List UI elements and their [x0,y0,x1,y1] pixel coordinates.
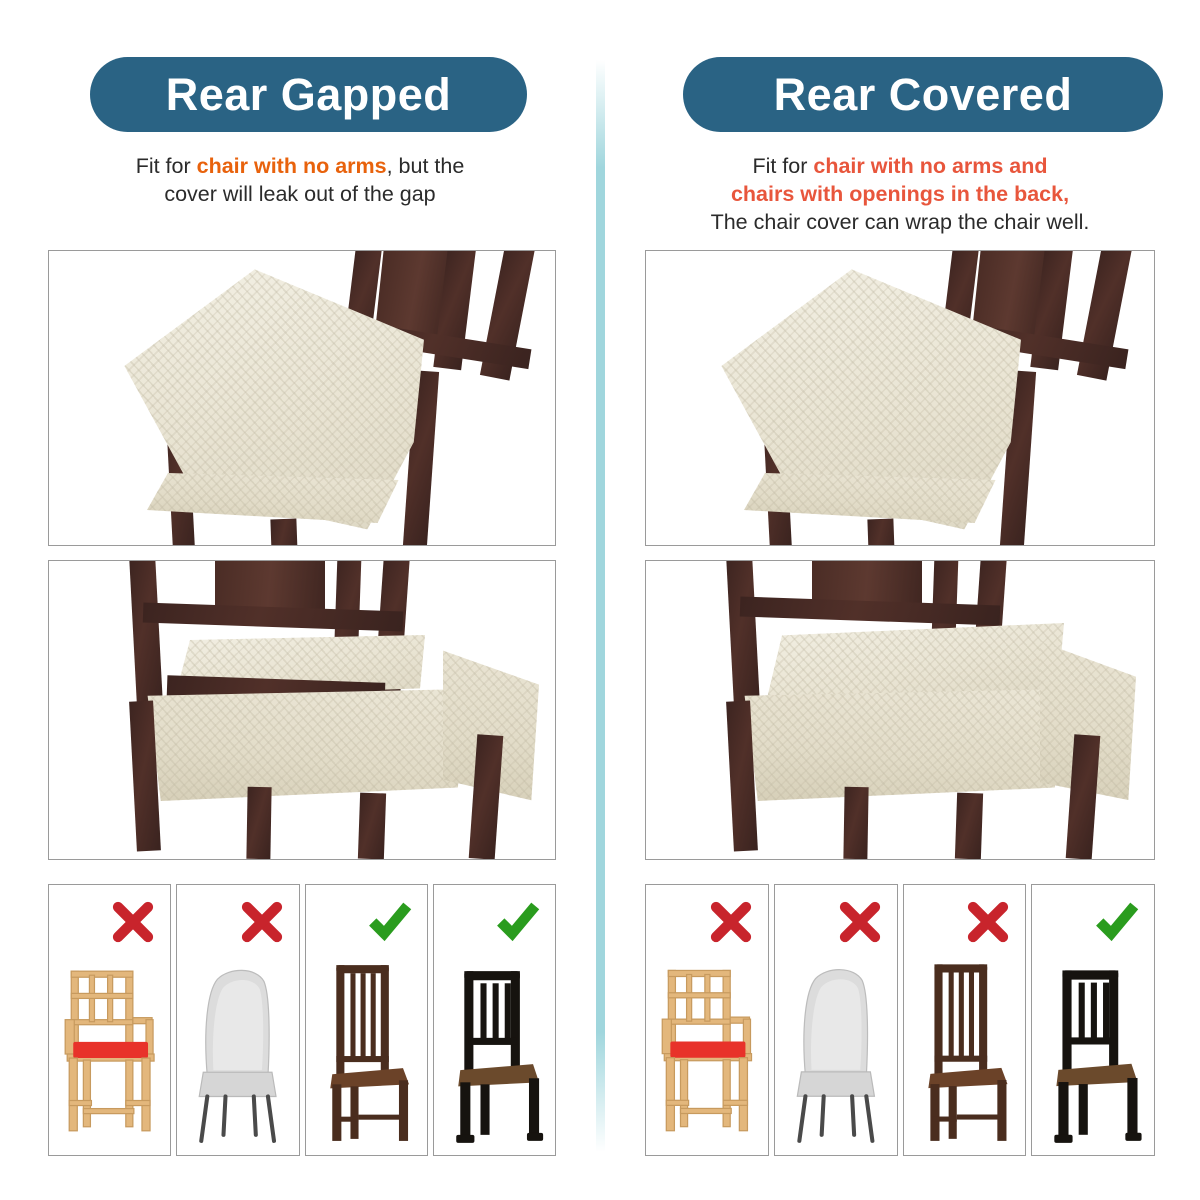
photo-seat-angled-left [48,250,556,546]
chair-back-rail-upper [143,602,404,631]
cover-apron [738,689,1068,801]
subtitle-line-3: The chair cover can wrap the chair well. [630,208,1170,236]
badge-label: Rear Covered [774,72,1073,117]
subtitle-line-1: Fit for chair with no arms and [630,152,1170,180]
photo-rear-covered [645,560,1155,860]
thumb-cell[interactable] [48,884,171,1156]
panel-rear-gapped: Rear Gapped Fit for chair with no arms, … [0,0,600,1200]
scene-rear-gapped [49,561,555,859]
chair-front-leg-center [867,519,894,546]
badge-label: Rear Gapped [166,72,452,117]
subtitle-text-pre: Fit for [136,154,197,178]
chair-brown-slat-back-chair [904,947,1026,1149]
photo-rear-gapped [48,560,556,860]
cover-apron [141,689,471,801]
subtitle-rear-gapped: Fit for chair with no arms, but the cove… [30,152,570,208]
apron-weave [738,689,1068,801]
apron-weave [141,689,471,801]
subtitle-rear-covered: Fit for chair with no arms and chairs wi… [630,152,1170,236]
thumb-cell[interactable] [1031,884,1155,1156]
thumbnail-strip-left [48,884,556,1156]
chair-leg-front-left [843,787,868,859]
thumb-cell[interactable] [433,884,556,1156]
subtitle-highlight: chair with no arms [197,154,387,178]
chair-back-rail-upper [740,596,1001,625]
cross-icon [708,899,754,945]
subtitle-text-post: , but the [387,154,465,178]
center-divider [596,0,605,1200]
chair-back-post-left [726,560,760,706]
subtitle-line-2: cover will leak out of the gap [30,180,570,208]
thumbnail-strip-right [645,884,1155,1156]
check-icon [495,899,541,945]
thumb-cell[interactable] [176,884,299,1156]
thumb-cell[interactable] [774,884,898,1156]
scene-seat-angled [646,251,1154,545]
cross-icon [110,899,156,945]
check-icon [1094,899,1140,945]
cross-icon [837,899,883,945]
cross-icon [239,899,285,945]
panel-rear-covered: Rear Covered Fit for chair with no arms … [600,0,1200,1200]
chair-leg-front-right [955,793,983,860]
subtitle-text-pre: Fit for [752,154,813,178]
chair-wood-armchair-red-seat [49,947,170,1149]
comparison-infographic: Rear Gapped Fit for chair with no arms, … [0,0,1200,1200]
check-icon [367,899,413,945]
chair-black-slat-back-chair [1032,947,1154,1149]
badge-rear-gapped: Rear Gapped [90,57,527,132]
scene-seat-angled [49,251,555,545]
chair-back-post-left [129,560,163,706]
chair-grey-upholstered-chair [775,947,897,1149]
chair-brown-slat-back-chair [306,947,427,1149]
scene-rear-covered [646,561,1154,859]
subtitle-highlight-2: chairs with openings in the back, [630,180,1170,208]
chair-wood-armchair-red-seat [646,947,768,1149]
chair-grey-upholstered-chair [177,947,298,1149]
badge-rear-covered: Rear Covered [683,57,1163,132]
thumb-cell[interactable] [903,884,1027,1156]
subtitle-line-1: Fit for chair with no arms, but the [30,152,570,180]
photo-seat-angled-right [645,250,1155,546]
chair-front-leg-center [270,519,297,546]
subtitle-highlight-1: chair with no arms and [813,154,1047,178]
thumb-cell[interactable] [645,884,769,1156]
chair-black-slat-back-chair [434,947,555,1149]
chair-leg-front-right [358,793,386,860]
thumb-cell[interactable] [305,884,428,1156]
cross-icon [965,899,1011,945]
chair-leg-front-left [246,787,271,859]
